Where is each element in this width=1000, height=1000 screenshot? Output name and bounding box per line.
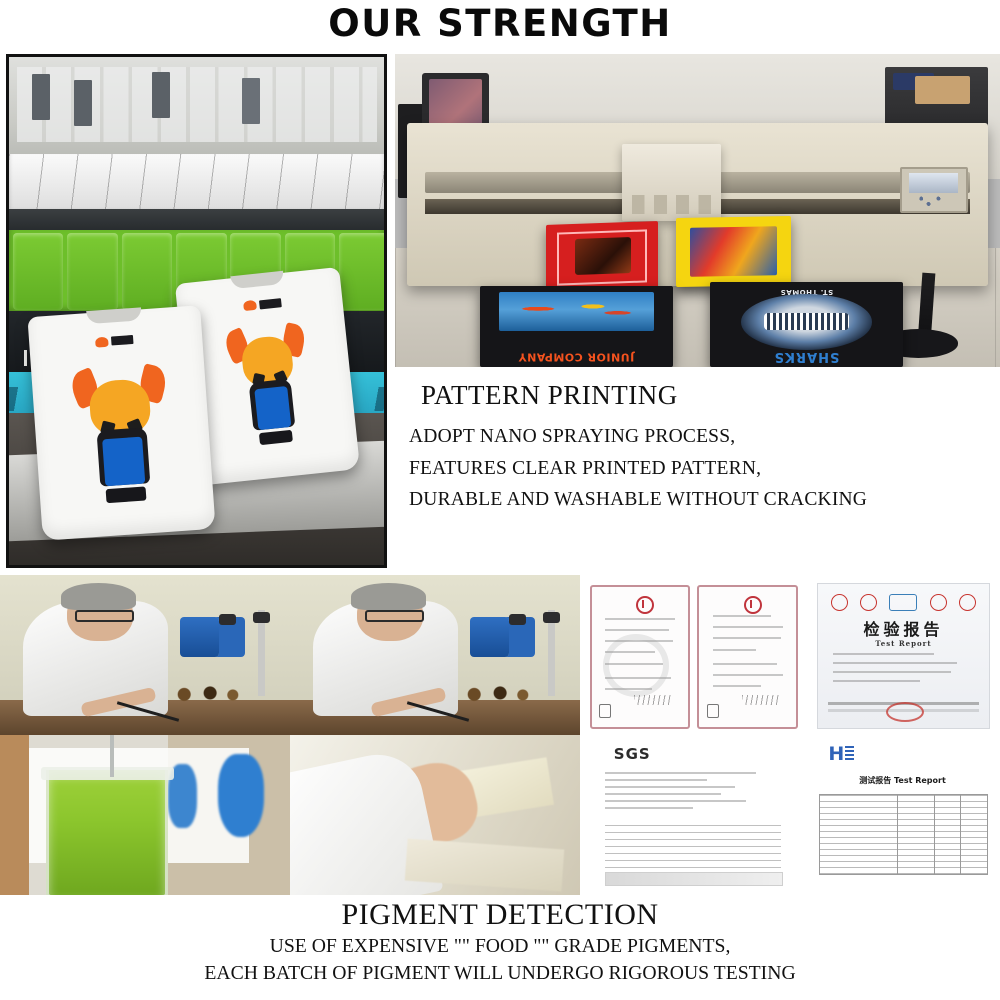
bull-mascot-graphic bbox=[229, 317, 311, 445]
platen-yellow-garment bbox=[676, 216, 791, 287]
white-shirt-row bbox=[9, 154, 384, 215]
certificate-en bbox=[697, 585, 798, 730]
blue-equipment-blur bbox=[218, 754, 264, 837]
eyeglasses-icon bbox=[75, 610, 134, 622]
document-test-report: H 测试报告 Test Report bbox=[805, 737, 1000, 895]
photo-lab-technician-1 bbox=[0, 575, 290, 735]
signature bbox=[634, 695, 673, 705]
bull-mascot-graphic bbox=[76, 357, 168, 501]
reagent-bottles bbox=[458, 677, 539, 706]
pigment-detection-line-1: USE OF EXPENSIVE "" FOOD "" GRADE PIGMEN… bbox=[20, 933, 980, 961]
sgs-footer-stamp bbox=[605, 872, 783, 886]
signature bbox=[742, 695, 781, 705]
eyeglasses-icon bbox=[365, 610, 424, 622]
page-title: OUR STRENGTH bbox=[328, 5, 671, 42]
conveyor-scene bbox=[9, 57, 384, 565]
photo-dtg-printer: JUNIOR COMPANY ST. THOMAS SHARKS bbox=[395, 54, 1000, 367]
sharks-artwork bbox=[741, 294, 873, 350]
test-report-title: 测试报告 Test Report bbox=[805, 775, 1000, 786]
tshirt-white-front bbox=[28, 305, 216, 540]
inspection-title-cn: 检验报告 bbox=[818, 616, 990, 640]
print-head-assembly bbox=[622, 144, 721, 220]
printer-control-panel[interactable] bbox=[900, 167, 968, 213]
cardboard-box bbox=[915, 76, 969, 104]
bull-mini-icon bbox=[95, 336, 109, 347]
document-sgs-report: SGS bbox=[583, 737, 803, 895]
inspection-fields bbox=[833, 653, 974, 689]
pigment-detection-text-block: PIGMENT DETECTION USE OF EXPENSIVE "" FO… bbox=[0, 898, 1000, 1000]
lab-logo-icon bbox=[889, 594, 917, 611]
photo-conveyor-tshirt-line bbox=[6, 54, 387, 568]
brand-logo-mini bbox=[243, 298, 282, 312]
junior-company-artwork bbox=[499, 292, 654, 331]
certification-logos bbox=[831, 594, 975, 611]
inspection-title-en: Test Report bbox=[818, 639, 990, 648]
test-results-table bbox=[819, 794, 989, 875]
approval-logo-icon bbox=[959, 594, 976, 611]
photo-hand-sample-check bbox=[290, 735, 580, 895]
reagent-bottles bbox=[168, 677, 249, 706]
document-certificates-pair bbox=[583, 575, 803, 735]
technician-hair bbox=[61, 583, 136, 610]
technician-hair bbox=[351, 583, 426, 610]
pattern-printing-heading: PATTERN PRINTING bbox=[395, 380, 1000, 411]
document-inspection-report: 检验报告 Test Report bbox=[805, 575, 1000, 735]
certificate-cn bbox=[590, 585, 691, 730]
pattern-printing-line-1: ADOPT NANO SPRAYING PROCESS, bbox=[395, 421, 1000, 453]
platen-red-garment bbox=[546, 221, 658, 294]
page-title-bar: OUR STRENGTH bbox=[0, 0, 1000, 46]
beaker-green-liquid bbox=[46, 770, 168, 895]
page-mark bbox=[599, 704, 611, 718]
pattern-printing-text-block: PATTERN PRINTING ADOPT NANO SPRAYING PRO… bbox=[395, 380, 1000, 555]
platen-black-sharks: ST. THOMAS SHARKS bbox=[710, 282, 904, 367]
stirring-rod bbox=[110, 735, 114, 777]
sgs-header-fields bbox=[605, 772, 781, 814]
pigment-detection-line-2: EACH BATCH OF PIGMENT WILL UNDERGO RIGOR… bbox=[20, 960, 980, 988]
strength-infographic: OUR STRENGTH bbox=[0, 0, 1000, 1000]
sgs-logo-text: SGS bbox=[614, 745, 651, 763]
photo-lab-technician-2 bbox=[290, 575, 580, 735]
ccc-logo-icon bbox=[831, 594, 848, 611]
quality-logo-icon bbox=[860, 594, 877, 611]
brand-wordmark bbox=[111, 335, 134, 346]
inspection-report-sheet: 检验报告 Test Report bbox=[817, 583, 991, 729]
standard-logo-icon bbox=[930, 594, 947, 611]
certification-seal-icon bbox=[744, 596, 762, 614]
certification-seal-icon bbox=[636, 596, 654, 614]
pattern-printing-line-2: FEATURES CLEAR PRINTED PATTERN, bbox=[395, 453, 1000, 485]
sgs-results-table bbox=[605, 825, 781, 872]
pattern-printing-line-3: DURABLE AND WASHABLE WITHOUT CRACKING bbox=[395, 484, 1000, 516]
printer-scene: JUNIOR COMPANY ST. THOMAS SHARKS bbox=[395, 54, 1000, 367]
bull-mini-icon bbox=[243, 301, 257, 312]
beaker-rim bbox=[41, 767, 174, 780]
sharks-label: SHARKS bbox=[729, 349, 884, 364]
platen-black-junior-company: JUNIOR COMPANY bbox=[480, 286, 674, 367]
page-mark bbox=[707, 704, 719, 718]
brand-logo-mini bbox=[95, 335, 134, 348]
pigment-detection-heading: PIGMENT DETECTION bbox=[0, 898, 1000, 933]
h-lab-logo-icon: H bbox=[828, 745, 854, 765]
h-logo-letter: H bbox=[828, 745, 844, 764]
junior-company-label: JUNIOR COMPANY bbox=[491, 351, 661, 363]
brand-wordmark bbox=[259, 298, 282, 309]
photo-green-pigment-beaker bbox=[0, 735, 290, 895]
red-stamp-icon bbox=[886, 702, 924, 722]
